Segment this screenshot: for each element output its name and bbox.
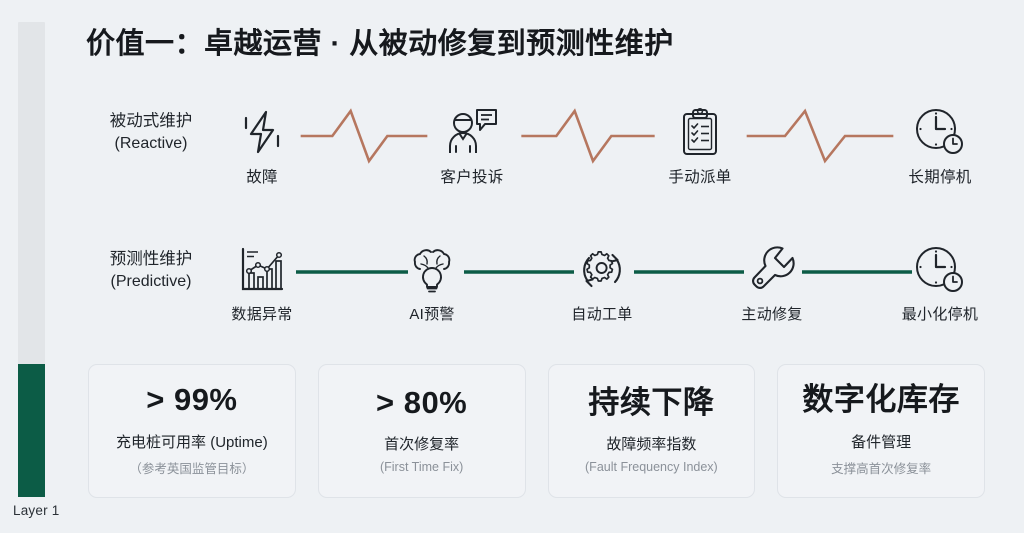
row-label-predictive-en: (Predictive) — [86, 271, 216, 294]
flow-node-label: AI预警 — [372, 303, 492, 324]
metric-card-row: > 99% 充电桩可用率 (Uptime) （参考英国监管目标） > 80% 首… — [88, 364, 985, 498]
clock-long-downtime-icon — [880, 106, 1000, 158]
wrench-icon — [712, 244, 832, 296]
flow-row-predictive: 预测性维护 (Predictive) — [0, 236, 1024, 346]
clipboard-checklist-icon — [640, 106, 760, 158]
metric-label: 备件管理 — [851, 431, 911, 452]
bar-chart-anomaly-icon — [202, 244, 322, 296]
flow-node-fault[interactable]: 故障 — [202, 106, 322, 187]
metric-sub: (Fault Frequency Index) — [585, 460, 718, 474]
flow-node-label: 客户投诉 — [412, 165, 532, 187]
page-title: 价值一：卓越运营 · 从被动修复到预测性维护 — [86, 20, 674, 62]
row-label-reactive-en: (Reactive) — [86, 133, 216, 156]
metric-value: 持续下降 — [588, 386, 714, 420]
layer-rail-label: Layer 1 — [13, 503, 59, 518]
customer-complaint-icon — [412, 106, 532, 158]
metric-value: > 80% — [376, 386, 467, 420]
metric-card-uptime[interactable]: > 99% 充电桩可用率 (Uptime) （参考英国监管目标） — [88, 364, 296, 498]
flow-node-data-anomaly[interactable]: 数据异常 — [202, 244, 322, 324]
metric-label: 充电桩可用率 (Uptime) — [116, 431, 268, 452]
flow-node-minimal-downtime[interactable]: 最小化停机 — [880, 244, 1000, 324]
flow-node-auto-work-order[interactable]: 自动工单 — [542, 244, 662, 324]
row-label-predictive: 预测性维护 (Predictive) — [86, 248, 216, 294]
flow-node-proactive-repair[interactable]: 主动修复 — [712, 244, 832, 324]
flow-node-manual-dispatch[interactable]: 手动派单 — [640, 106, 760, 187]
row-label-reactive-cn: 被动式维护 — [86, 110, 216, 133]
metric-sub: （参考英国监管目标） — [129, 458, 254, 477]
flow-node-label: 故障 — [202, 165, 322, 187]
gear-refresh-icon — [542, 244, 662, 296]
flow-node-label: 长期停机 — [880, 165, 1000, 187]
metric-value: 数字化库存 — [802, 383, 960, 417]
flow-node-customer-complaint[interactable]: 客户投诉 — [412, 106, 532, 187]
metric-card-first-time-fix[interactable]: > 80% 首次修复率 (First Time Fix) — [318, 364, 526, 498]
lightning-bolt-icon — [202, 106, 322, 158]
flow-node-long-downtime[interactable]: 长期停机 — [880, 106, 1000, 187]
metric-sub: (First Time Fix) — [380, 460, 463, 474]
flow-row-reactive: 被动式维护 (Reactive) 故障 — [0, 96, 1024, 206]
brain-lightbulb-icon — [372, 244, 492, 296]
flow-node-label: 主动修复 — [712, 303, 832, 324]
layer-progress-fill — [18, 364, 45, 497]
metric-value: > 99% — [146, 383, 237, 417]
row-label-reactive: 被动式维护 (Reactive) — [86, 110, 216, 156]
flow-node-ai-alert[interactable]: AI预警 — [372, 244, 492, 324]
clock-minimal-downtime-icon — [880, 244, 1000, 296]
metric-card-digital-inventory[interactable]: 数字化库存 备件管理 支撑高首次修复率 — [777, 364, 985, 498]
flow-node-label: 手动派单 — [640, 165, 760, 187]
flow-node-label: 自动工单 — [542, 303, 662, 324]
metric-label: 故障频率指数 — [606, 433, 696, 454]
row-label-predictive-cn: 预测性维护 — [86, 248, 216, 271]
metric-label: 首次修复率 — [384, 433, 459, 454]
flow-node-label: 数据异常 — [202, 303, 322, 324]
metric-card-fault-frequency[interactable]: 持续下降 故障频率指数 (Fault Frequency Index) — [548, 364, 756, 498]
metric-sub: 支撑高首次修复率 — [831, 458, 931, 477]
flow-node-label: 最小化停机 — [880, 303, 1000, 324]
